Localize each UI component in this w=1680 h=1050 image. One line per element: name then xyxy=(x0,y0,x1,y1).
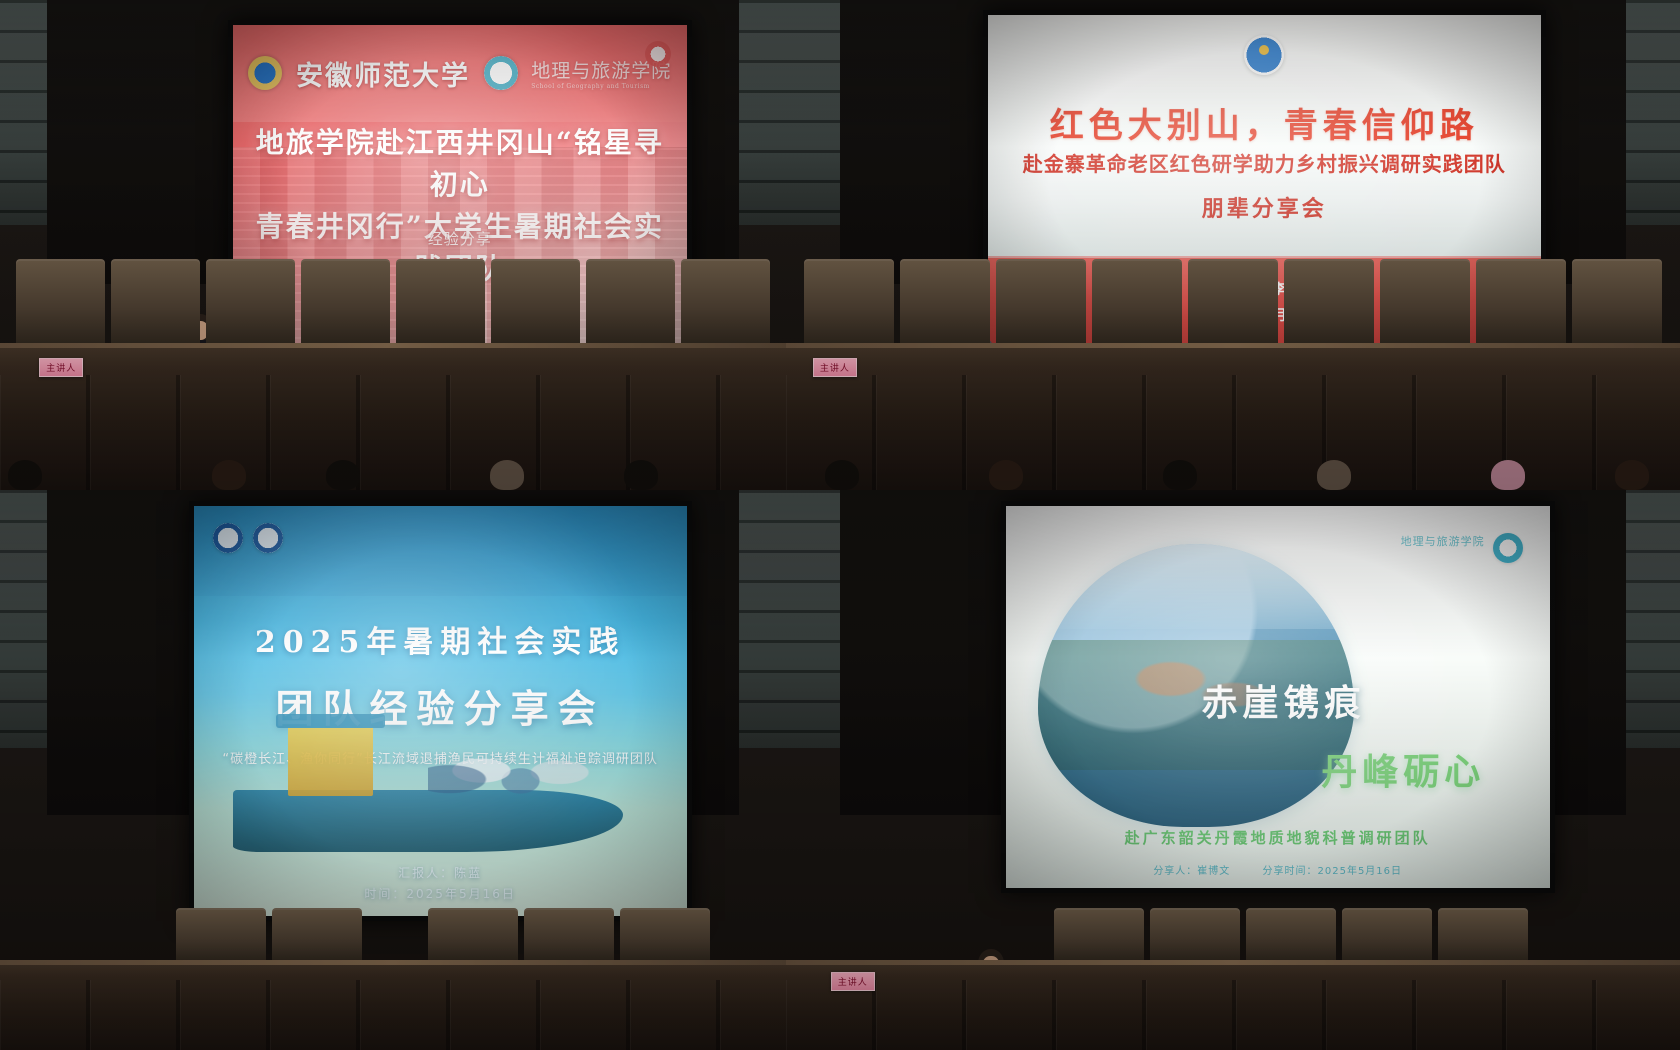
desk-panel-texture xyxy=(786,980,1680,1050)
chair xyxy=(1092,259,1182,343)
audience-row xyxy=(786,446,1680,490)
anhui-normal-university-logo-icon xyxy=(248,56,282,90)
chair xyxy=(1438,908,1528,960)
chair-row xyxy=(786,235,1680,343)
screenshot-root: 安徽师范大学 地理与旅游学院 School of Geography and T… xyxy=(0,0,1680,1050)
audience-row xyxy=(0,446,786,490)
chair xyxy=(1380,259,1470,343)
photo-panel-top-left: 安徽师范大学 地理与旅游学院 School of Geography and T… xyxy=(0,0,786,490)
projection-screen: 2025年暑期社会实践 团队经验分享会 “碳橙长江、渔你同行”长江流域退捕渔民可… xyxy=(194,506,687,916)
school-logo-label: 地理与旅游学院 xyxy=(1401,533,1485,549)
slide-logo-header: 安徽师范大学 地理与旅游学院 School of Geography and T… xyxy=(233,25,687,122)
chair xyxy=(111,259,200,343)
photo-panel-bottom-right: 地理与旅游学院 赤崖镌痕 丹峰砺心 赴广东韶关丹霞地质地貌科普调研团队 分享人：… xyxy=(786,490,1680,1050)
chair xyxy=(586,259,675,343)
chair xyxy=(16,259,105,343)
chair-row xyxy=(0,235,786,343)
audience-head xyxy=(825,460,859,490)
chair-row xyxy=(786,893,1680,960)
audience-head xyxy=(1163,460,1197,490)
slide-title-line2: 丹峰砺心 xyxy=(1321,743,1485,795)
projection-screen: 地理与旅游学院 赤崖镌痕 丹峰砺心 赴广东韶关丹霞地质地貌科普调研团队 分享人：… xyxy=(1006,506,1550,888)
chair xyxy=(900,259,990,343)
slide-title-line1: 2025年暑期社会实践 xyxy=(194,617,687,661)
university-emblem-icon xyxy=(1244,35,1284,75)
slide-title: 红色大别山，青春信仰路 xyxy=(988,98,1541,147)
chair xyxy=(996,259,1086,343)
slide-danxia: 地理与旅游学院 赤崖镌痕 丹峰砺心 赴广东韶关丹霞地质地貌科普调研团队 分享人：… xyxy=(1006,506,1550,888)
slide-logo-group xyxy=(213,523,283,553)
chair xyxy=(620,908,710,960)
audience-head xyxy=(212,460,246,490)
audience-head xyxy=(989,460,1023,490)
chair xyxy=(396,259,485,343)
slide-subtitle-event: 朋辈分享会 xyxy=(988,191,1541,223)
geography-school-logo-icon xyxy=(253,523,283,553)
presenter-line: 分享人：崔博文 xyxy=(1153,866,1230,877)
chair xyxy=(1476,259,1566,343)
chair xyxy=(1342,908,1432,960)
slide-yangtze-fishermen: 2025年暑期社会实践 团队经验分享会 “碳橙长江、渔你同行”长江流域退捕渔民可… xyxy=(194,506,687,916)
chair xyxy=(681,259,770,343)
chair xyxy=(1188,259,1278,343)
audience-head xyxy=(1615,460,1649,490)
geography-school-logo-icon xyxy=(1493,533,1523,563)
date-line: 分享时间：2025年5月16日 xyxy=(1263,866,1403,877)
audience-head xyxy=(8,460,42,490)
speaker-nameplate: 主讲人 xyxy=(813,358,857,377)
speaker-nameplate: 主讲人 xyxy=(39,358,83,377)
anhui-normal-university-logo-icon xyxy=(213,523,243,553)
school-name-en: School of Geography and Tourism xyxy=(531,83,671,90)
chair xyxy=(1054,908,1144,960)
audience-head xyxy=(1317,460,1351,490)
boat-cabin xyxy=(288,725,373,796)
chair xyxy=(272,908,362,960)
slide-footer-info: 分享人：崔博文 分享时间：2025年5月16日 xyxy=(1006,862,1550,877)
chair-row xyxy=(0,893,786,960)
fishing-boat-illustration xyxy=(233,719,657,867)
speaker-nameplate: 主讲人 xyxy=(831,972,875,991)
chair xyxy=(1150,908,1240,960)
slide-subtitle-team: 赴金寨革命老区红色研学助力乡村振兴调研实践团队 xyxy=(988,148,1541,177)
slide-title-line1: 赤崖镌痕 xyxy=(1201,674,1365,726)
geography-school-logo-icon xyxy=(484,56,518,90)
chair xyxy=(176,908,266,960)
chair xyxy=(206,259,295,343)
chair xyxy=(524,908,614,960)
university-name: 安徽师范大学 xyxy=(296,54,470,93)
photo-grid: 安徽师范大学 地理与旅游学院 School of Geography and T… xyxy=(0,0,1680,1050)
photo-panel-bottom-left: 2025年暑期社会实践 团队经验分享会 “碳橙长江、渔你同行”长江流域退捕渔民可… xyxy=(0,490,786,1050)
audience-head xyxy=(490,460,524,490)
projection-screen-frame: 地理与旅游学院 赤崖镌痕 丹峰砺心 赴广东韶关丹霞地质地貌科普调研团队 分享人：… xyxy=(1001,501,1555,893)
presenter-line: 汇报人：陈蓝 xyxy=(194,863,687,883)
chair xyxy=(1246,908,1336,960)
chair xyxy=(301,259,390,343)
audience-head xyxy=(624,460,658,490)
slide-title-line1: 地旅学院赴江西井冈山“铭星寻初心 xyxy=(247,122,674,206)
slide-subtitle: 赴广东韶关丹霞地质地貌科普调研团队 xyxy=(1006,827,1550,848)
front-desk xyxy=(0,960,786,1050)
slide-corner-badge-icon xyxy=(645,41,671,67)
boat-people xyxy=(428,719,606,805)
chair xyxy=(1284,259,1374,343)
chair xyxy=(1572,259,1662,343)
audience-head xyxy=(1491,460,1525,490)
chair xyxy=(804,259,894,343)
chair xyxy=(491,259,580,343)
chair xyxy=(428,908,518,960)
front-desk xyxy=(786,960,1680,1050)
desk-panel-texture xyxy=(0,980,786,1050)
photo-panel-top-right: 红色大别山，青春信仰路 赴金寨革命老区红色研学助力乡村振兴调研实践团队 朋辈分享… xyxy=(786,0,1680,490)
projection-screen-frame: 2025年暑期社会实践 团队经验分享会 “碳橙长江、渔你同行”长江流域退捕渔民可… xyxy=(189,501,692,921)
audience-head xyxy=(326,460,360,490)
